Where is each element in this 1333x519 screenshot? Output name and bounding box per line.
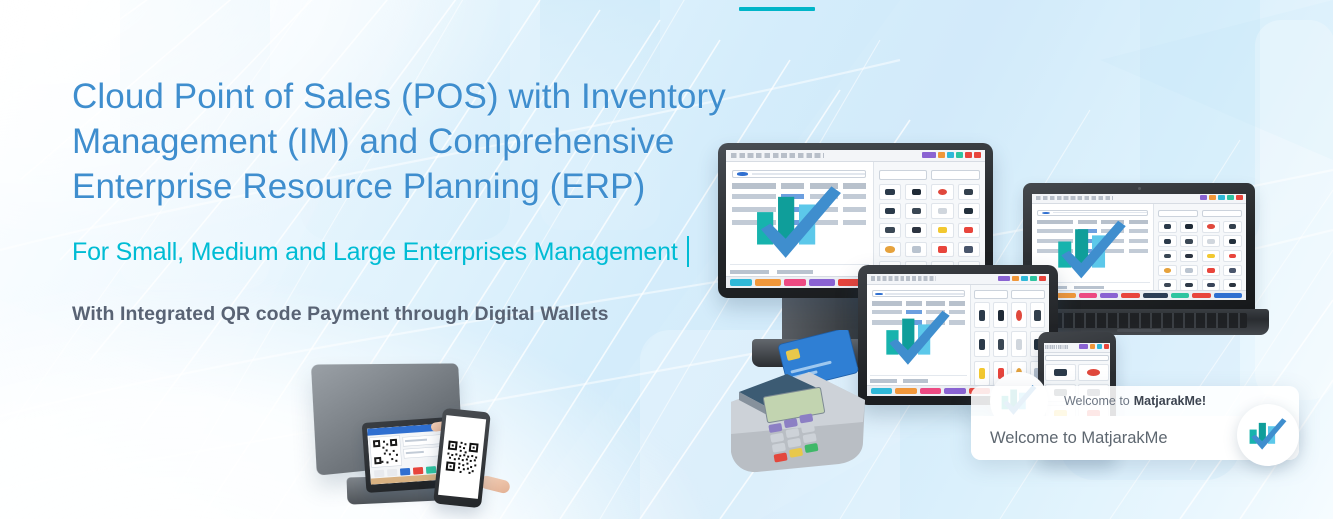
tagline: With Integrated QR code Payment through … — [72, 301, 772, 327]
brand-watermark-logo — [882, 309, 954, 372]
customer-phone — [433, 408, 491, 508]
subheadline: For Small, Medium and Large Enterprises … — [72, 236, 678, 268]
pos-ui-titlebar — [1044, 343, 1110, 353]
pos-ui-action-buttons — [1032, 290, 1246, 300]
qr-code-icon — [443, 438, 480, 475]
hero-banner: Cloud Point of Sales (POS) with Inventor… — [0, 0, 1333, 519]
chat-popup-title-prefix: Welcome to — [1064, 394, 1130, 408]
page-title: Cloud Point of Sales (POS) with Inventor… — [72, 74, 772, 209]
matjarakme-logo-icon — [1247, 417, 1289, 453]
pos-software-ui — [1032, 194, 1246, 300]
hero-copy: Cloud Point of Sales (POS) with Inventor… — [72, 74, 772, 327]
headline-line-2: Management (IM) and Comprehensive — [72, 119, 772, 164]
headline-line-1: Cloud Point of Sales (POS) with Inventor… — [72, 74, 772, 119]
pos-ui-product-grid — [1154, 204, 1246, 300]
typing-cursor — [687, 236, 689, 267]
brand-watermark-logo — [1053, 218, 1131, 285]
laptop-keyboard — [1031, 313, 1247, 328]
pos-ui-titlebar — [1032, 194, 1246, 204]
qr-scan-scene — [312, 358, 542, 519]
laptop-camera-icon — [1138, 187, 1141, 190]
laptop-trackpad — [1117, 329, 1161, 332]
payment-terminal-body — [731, 372, 865, 472]
pos-ui-titlebar — [867, 274, 1049, 285]
subheadline-row: For Small, Medium and Large Enterprises … — [72, 235, 772, 269]
device-card-payment-terminal — [713, 330, 893, 480]
phone-qr-screen — [438, 415, 486, 499]
chat-popup-title-brand: MatjarakMe! — [1134, 394, 1206, 408]
chat-launcher-button[interactable] — [1237, 404, 1299, 466]
laptop-screen — [1032, 194, 1246, 300]
headline-line-3: Enterprise Resource Planning (ERP) — [72, 164, 772, 209]
